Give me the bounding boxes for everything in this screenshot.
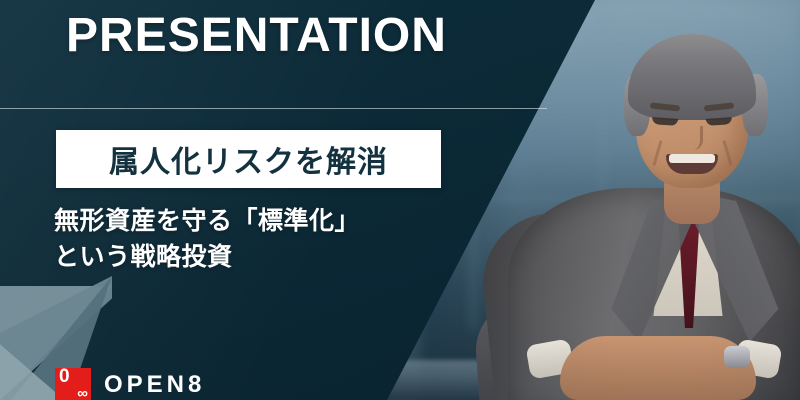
headline-box: 属人化リスクを解消 xyxy=(56,130,441,188)
page-title: PRESENTATION xyxy=(66,12,447,60)
title-divider xyxy=(0,108,547,109)
logo-wordmark: OPEN8 xyxy=(104,371,205,399)
logo-mark-icon: 0 ∞ xyxy=(55,368,91,400)
presentation-slide: PRESENTATION 属人化リスクを解消 無形資産を守る「標準化」 という戦… xyxy=(0,0,800,400)
subtitle: 無形資産を守る「標準化」 という戦略投資 xyxy=(54,204,474,275)
logo-infinity-icon: ∞ xyxy=(77,386,88,400)
subtitle-line-2: という戦略投資 xyxy=(54,240,474,276)
open8-logo: 0 ∞ OPEN8 xyxy=(55,368,205,400)
headline-text: 属人化リスクを解消 xyxy=(109,137,388,181)
logo-zero-glyph: 0 xyxy=(59,367,70,386)
subtitle-line-1: 無形資産を守る「標準化」 xyxy=(54,204,474,240)
